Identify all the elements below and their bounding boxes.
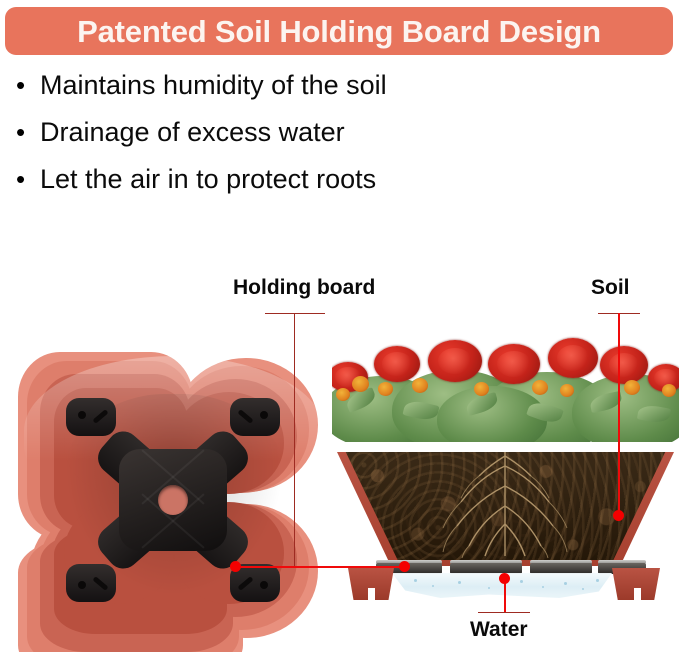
- callout-label-soil: Soil: [591, 276, 630, 300]
- board-foot-pad: [66, 398, 116, 436]
- mini-flower: [336, 388, 350, 401]
- callout-leader-holding-board: [265, 313, 325, 314]
- flower-bloom: [488, 344, 540, 384]
- flower-bloom: [374, 346, 420, 382]
- flower-bloom: [600, 346, 648, 384]
- board-foot-pad: [66, 564, 116, 602]
- mini-flower: [624, 380, 640, 395]
- callout-dot-water: [499, 573, 510, 584]
- callout-leader-holding-board: [294, 313, 295, 567]
- board-screw: [260, 581, 268, 589]
- flower-cluster: [332, 330, 679, 442]
- mini-flower: [532, 380, 548, 395]
- drain-hole: [158, 485, 188, 515]
- callout-label-holding-board: Holding board: [233, 276, 375, 300]
- root-system-icon: [337, 452, 674, 560]
- mini-flower: [352, 376, 369, 392]
- board-screw: [78, 411, 86, 419]
- callout-leader-water: [478, 612, 530, 613]
- diagram-illustration: Holding board Soil Water: [0, 0, 679, 652]
- board-foot-pad: [230, 398, 280, 436]
- product-infographic: Patented Soil Holding Board Design • Mai…: [0, 0, 679, 652]
- foot-notch: [634, 588, 641, 602]
- flower-bloom: [428, 340, 482, 382]
- callout-leader-soil: [618, 313, 620, 515]
- holding-board-strip: [530, 563, 592, 574]
- soil-holding-board: [70, 400, 276, 600]
- callout-dot-soil: [613, 510, 624, 521]
- mini-flower: [560, 384, 574, 397]
- mini-flower: [378, 382, 393, 396]
- callout-dot-holding-board-right: [399, 561, 410, 572]
- flower-bloom: [548, 338, 598, 378]
- holding-board-strip: [450, 563, 522, 574]
- callout-leader-holding-board: [294, 566, 406, 568]
- mini-flower: [474, 382, 489, 396]
- callout-leader-water: [504, 582, 506, 612]
- board-screw: [78, 581, 86, 589]
- clover-pot-top-view: [18, 352, 330, 644]
- board-screw: [260, 411, 268, 419]
- mini-flower: [662, 384, 676, 397]
- callout-dot-holding-board-left: [230, 561, 241, 572]
- callout-label-water: Water: [470, 618, 528, 642]
- foot-notch: [368, 588, 375, 602]
- callout-leader-holding-board: [236, 566, 294, 568]
- mini-flower: [412, 378, 428, 393]
